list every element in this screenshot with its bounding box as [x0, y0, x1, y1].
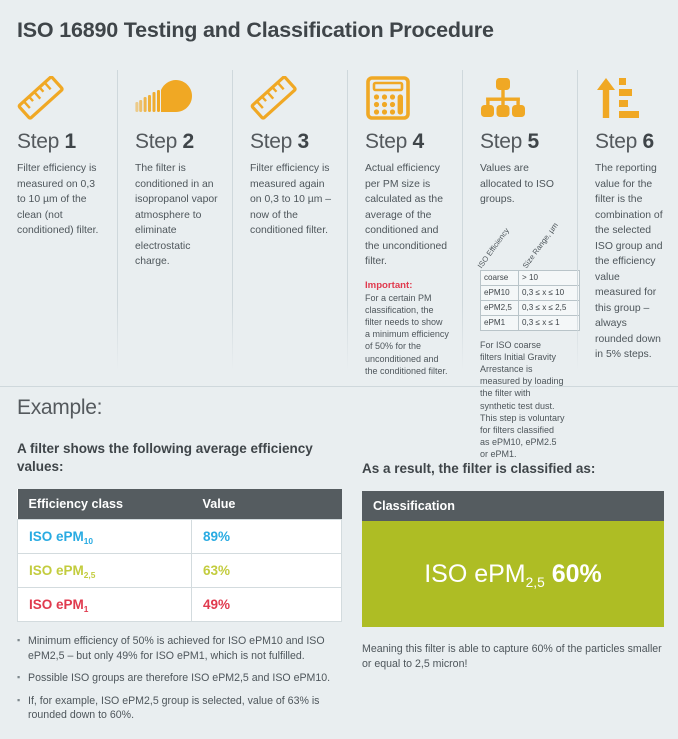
step-label-2: Step [135, 130, 177, 153]
class-subscript: 1 [84, 604, 89, 614]
bar-chart-arrow-icon [595, 70, 665, 120]
example-left-column: A filter shows the following average eff… [17, 440, 342, 731]
iso-range-cell: 0,3 ≤ x ≤ 2,5 [519, 300, 580, 315]
step-body-2: The filter is conditioned in an isopropa… [135, 161, 220, 270]
efficiency-values-table: Efficiency class Value ISO ePM10 89% ISO… [17, 489, 342, 622]
step-card-5: Step 5 Values are allocated to ISO group… [463, 62, 578, 387]
ruler-icon [17, 70, 105, 120]
class-subscript: 2,5 [84, 570, 96, 580]
step-number-2: 2 [183, 130, 194, 153]
step-number-4: 4 [413, 130, 424, 153]
result-prefix: ISO ePM [424, 560, 525, 588]
step-label-1: Step [17, 130, 59, 153]
step-number-3: 3 [298, 130, 309, 153]
table-header-row: Efficiency class Value [18, 489, 342, 520]
step-body-3: Filter efficiency is measured again on 0… [250, 161, 335, 239]
step-body-5: Values are allocated to ISO groups. [480, 161, 565, 208]
step-number-5: 5 [528, 130, 539, 153]
step-label-6: Step [595, 130, 637, 153]
iso-range-cell: > 10 [519, 270, 580, 285]
classification-note: Meaning this filter is able to capture 6… [362, 642, 664, 671]
step-heading-3: Step 3 [250, 130, 335, 154]
iso-range-cell: 0,3 ≤ x ≤ 10 [519, 285, 580, 300]
class-subscript: 10 [84, 536, 93, 546]
iso-table-header-size-range: Size Range, µm [521, 220, 560, 269]
result-value: 60% [552, 560, 602, 588]
table-row: ePM10 0,3 ≤ x ≤ 10 [481, 285, 580, 300]
table-row: ePM1 0,3 ≤ x ≤ 1 [481, 315, 580, 330]
example-divider [0, 386, 678, 387]
value-cell: 63% [192, 554, 342, 588]
step-heading-6: Step 6 [595, 130, 665, 154]
iso-group-table: coarse > 10 ePM10 0,3 ≤ x ≤ 10 ePM2,5 0,… [480, 270, 580, 331]
steps-strip: Step 1 Filter efficiency is measured on … [0, 62, 678, 387]
step-body-1: Filter efficiency is measured on 0,3 to … [17, 161, 105, 239]
page-header: ISO 16890 Testing and Classification Pro… [0, 0, 678, 60]
step-heading-1: Step 1 [17, 130, 105, 154]
iso-class-cell: ePM2,5 [481, 300, 519, 315]
hierarchy-icon [480, 70, 565, 120]
step-card-1: Step 1 Filter efficiency is measured on … [0, 62, 118, 387]
step-number-1: 1 [65, 130, 76, 153]
step-body-4: Actual efficiency per PM size is calcula… [365, 161, 450, 270]
example-right-column: As a result, the filter is classified as… [362, 460, 664, 671]
classification-box-header: Classification [362, 491, 664, 521]
column-header-efficiency-class: Efficiency class [18, 489, 192, 520]
table-row: ISO ePM10 89% [18, 520, 342, 554]
example-left-heading: A filter shows the following average eff… [17, 440, 342, 476]
iso-class-cell: coarse [481, 270, 519, 285]
value-cell: 49% [192, 588, 342, 622]
step-number-6: 6 [643, 130, 654, 153]
iso-class-cell: ePM10 [481, 285, 519, 300]
step-card-4: Step 4 Actual efficiency per PM size is … [348, 62, 463, 387]
cloud-sound-icon [135, 70, 220, 120]
step-label-4: Step [365, 130, 407, 153]
calculator-icon [365, 70, 450, 120]
step-heading-5: Step 5 [480, 130, 565, 154]
infographic-page: ISO 16890 Testing and Classification Pro… [0, 0, 678, 739]
step-card-2: Step 2 The filter is conditioned in an i… [118, 62, 233, 387]
step-heading-2: Step 2 [135, 130, 220, 154]
step-heading-4: Step 4 [365, 130, 450, 154]
class-prefix: ISO ePM [29, 529, 84, 544]
iso-class-cell: ePM1 [481, 315, 519, 330]
table-row: ISO ePM2,5 63% [18, 554, 342, 588]
step-label-5: Step [480, 130, 522, 153]
important-body: For a certain PM classification, the fil… [365, 292, 450, 377]
classification-result-text: ISO ePM2,5 60% [424, 560, 602, 589]
example-bullet-list: Minimum efficiency of 50% is achieved fo… [17, 634, 342, 723]
page-title: ISO 16890 Testing and Classification Pro… [17, 18, 494, 43]
efficiency-class-cell: ISO ePM1 [18, 588, 192, 622]
table-row: coarse > 10 [481, 270, 580, 285]
example-right-heading: As a result, the filter is classified as… [362, 460, 664, 478]
class-prefix: ISO ePM [29, 563, 84, 578]
classification-box: Classification ISO ePM2,5 60% [362, 491, 664, 627]
iso-table-header-efficiency: ISO Efficiency [476, 226, 511, 270]
iso-table-rotated-headers: ISO Efficiency Size Range, µm [480, 218, 565, 270]
iso-range-cell: 0,3 ≤ x ≤ 1 [519, 315, 580, 330]
efficiency-class-cell: ISO ePM2,5 [18, 554, 192, 588]
list-item: Minimum efficiency of 50% is achieved fo… [17, 634, 342, 663]
step-card-6: Step 6 The reporting value for the filte… [578, 62, 678, 387]
ruler-icon [250, 70, 335, 120]
list-item: If, for example, ISO ePM2,5 group is sel… [17, 694, 342, 723]
result-subscript: 2,5 [526, 575, 545, 590]
table-row: ISO ePM1 49% [18, 588, 342, 622]
efficiency-class-cell: ISO ePM10 [18, 520, 192, 554]
step-label-3: Step [250, 130, 292, 153]
step-body-6: The reporting value for the filter is th… [595, 161, 665, 363]
class-prefix: ISO ePM [29, 597, 84, 612]
column-header-value: Value [192, 489, 342, 520]
classification-result-panel: ISO ePM2,5 60% [362, 521, 664, 627]
example-title: Example: [17, 396, 102, 420]
list-item: Possible ISO groups are therefore ISO eP… [17, 671, 342, 686]
important-label: Important: [365, 280, 450, 291]
iso-coarse-note: For ISO coarse filters Initial Gravity A… [480, 339, 565, 461]
value-cell: 89% [192, 520, 342, 554]
step-card-3: Step 3 Filter efficiency is measured aga… [233, 62, 348, 387]
table-row: ePM2,5 0,3 ≤ x ≤ 2,5 [481, 300, 580, 315]
